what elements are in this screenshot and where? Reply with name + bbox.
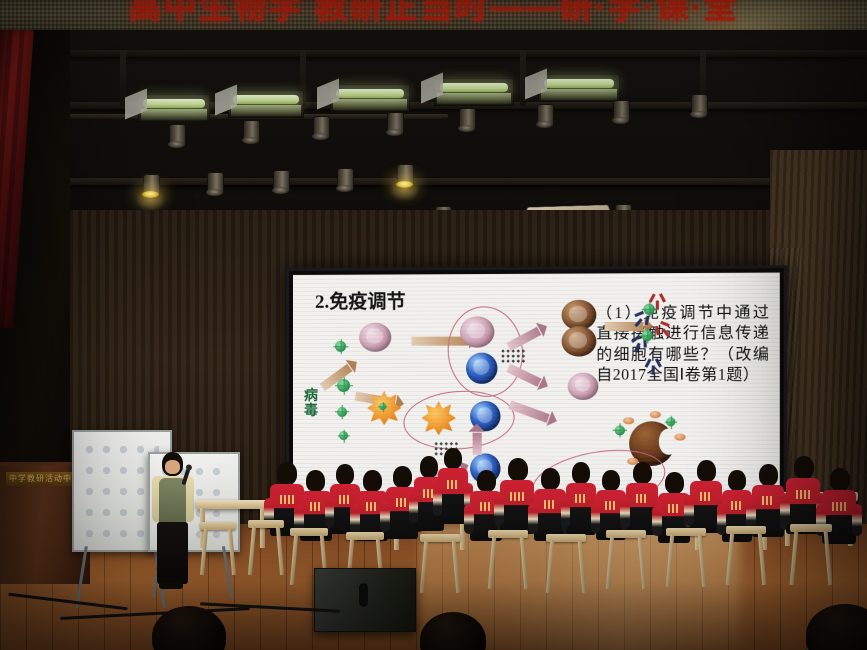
stool [546,534,586,592]
virus-particle-icon [335,341,346,352]
student-head [665,472,684,494]
student-head [363,470,382,492]
slide-title: 2.免疫调节 [315,286,406,313]
fluorescent-fixture [434,78,514,106]
teacher [150,452,196,592]
stool [248,520,284,574]
virus-particle-icon [641,330,652,341]
student-head [277,462,297,485]
student-head [306,470,325,492]
student-head [633,462,652,484]
t-cell-icon [460,316,494,347]
student-head [759,464,778,486]
student-head [420,456,438,478]
stage-light [206,172,223,202]
stage-light [242,120,259,150]
teacher-pants [157,522,188,584]
virus-label: 病毒 [304,390,328,419]
fluorescent-fixture [538,74,620,102]
slide-question-text: （1）免疫调节中通过直接接触进行信息传递的细胞有哪些？（改编自2017全国Ⅰ卷第… [596,303,769,386]
stage-light [168,124,185,154]
student-head [336,464,354,485]
student-head [444,448,462,469]
memory-cell-icon [568,373,599,400]
student-head [697,460,716,482]
stool [606,530,646,588]
stool [488,530,528,588]
stage-light [612,100,629,130]
ceiling-truss [40,178,867,185]
teacher-shoes [159,582,183,589]
stage-light [386,112,403,142]
debris-icon [623,417,634,424]
antibody-icon [646,358,661,374]
stage-light [536,104,553,134]
student-head [794,456,814,479]
student-head [728,470,746,491]
debris-icon [674,434,685,441]
fluorescent-fixture [228,90,304,118]
teacher-vest [159,478,186,524]
teacher-head [162,452,183,476]
auditorium-scene: 2.免疫调节 病毒 （1）免疫调节中通过直接接触进行信息传递的细胞有哪些？（改编… [0,0,867,650]
debris-icon [650,411,661,418]
banner-text: 高中生物学 教研正当时——研·学·课·堂 [0,0,867,30]
stage-light [458,108,475,138]
stool [666,528,706,586]
virus-particle-icon [337,407,347,417]
student-head [602,470,620,491]
stool [200,522,236,574]
b-cell-icon [466,353,497,384]
virus-particle-icon [379,403,386,410]
virus-particle-icon [615,425,625,435]
stage-light [272,170,289,200]
fluorescent-fixture [138,94,210,122]
plasma-cell-icon [562,326,597,356]
cytokine-dots-icon [500,349,526,365]
stage-light-lit [396,164,413,194]
virus-particle-icon [337,379,350,392]
student-head [393,466,412,488]
stool [790,524,832,584]
student-head [541,468,560,490]
ceiling-truss [30,50,867,57]
student-head [572,462,590,484]
student-head [477,470,496,492]
stage-light [312,116,329,146]
stage-monitor-speaker [314,568,416,632]
virus-particle-icon [643,304,654,315]
student-head [508,458,528,481]
event-banner: 高中生物学 教研正当时——研·学·课·堂 [0,0,867,30]
student-head [830,468,850,491]
stool [420,534,460,592]
stage-light [336,168,353,198]
flow-arrow [473,433,482,455]
virus-particle-icon [339,431,348,440]
virus-particle-icon [666,417,675,426]
stool [726,526,766,584]
stage-light [690,94,707,124]
t-cell-icon [359,323,391,352]
stage-light-lit [142,174,159,204]
